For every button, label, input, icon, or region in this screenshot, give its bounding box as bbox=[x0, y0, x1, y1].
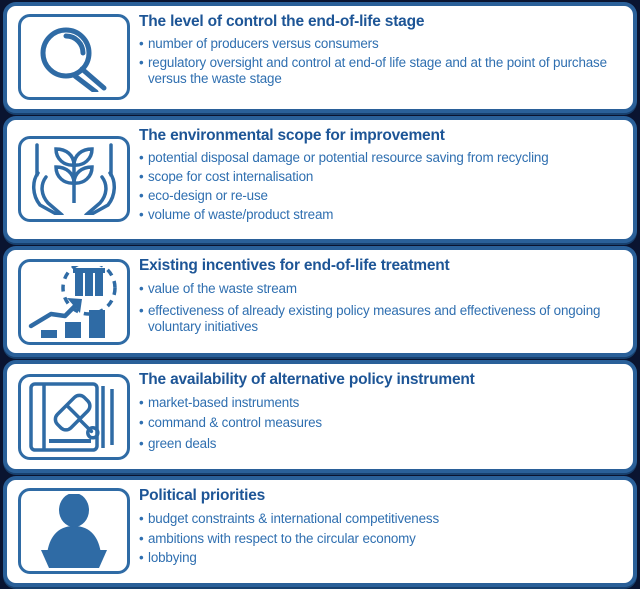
card-text-cell: Political priorities budget constraints … bbox=[135, 480, 633, 583]
icon-frame bbox=[18, 374, 130, 460]
bullet-item: budget constraints & international compe… bbox=[139, 511, 621, 527]
icon-frame bbox=[18, 259, 130, 345]
card-bullet-list: market-based instruments command & contr… bbox=[139, 395, 621, 456]
criteria-card-stack: The level of control the end-of-life sta… bbox=[0, 0, 640, 589]
card-title: The environmental scope for improvement bbox=[139, 127, 621, 144]
criteria-card: Political priorities budget constraints … bbox=[3, 476, 637, 587]
bullet-item: eco-design or re-use bbox=[139, 188, 621, 204]
card-icon-cell bbox=[7, 480, 135, 583]
card-text-cell: The availability of alternative policy i… bbox=[135, 364, 633, 469]
bullet-item: green deals bbox=[139, 436, 621, 452]
card-icon-cell bbox=[7, 364, 135, 469]
icon-frame bbox=[18, 136, 130, 222]
person-podium-icon bbox=[27, 494, 121, 568]
card-text-cell: The environmental scope for improvement … bbox=[135, 120, 633, 239]
card-icon-cell bbox=[7, 250, 135, 354]
bullet-item: ambitions with respect to the circular e… bbox=[139, 531, 621, 547]
bullet-item: number of producers versus consumers bbox=[139, 36, 621, 52]
card-icon-cell bbox=[7, 6, 135, 109]
card-text-cell: Existing incentives for end-of-life trea… bbox=[135, 250, 633, 354]
bullet-item: volume of waste/product stream bbox=[139, 207, 621, 223]
card-text-cell: The level of control the end-of-life sta… bbox=[135, 6, 633, 109]
bullet-item: value of the waste stream bbox=[139, 281, 621, 297]
criteria-card: The level of control the end-of-life sta… bbox=[3, 2, 637, 113]
bullet-item: potential disposal damage or potential r… bbox=[139, 150, 621, 166]
icon-frame bbox=[18, 488, 130, 574]
gavel-book-icon bbox=[27, 381, 121, 453]
card-bullet-list: number of producers versus consumers reg… bbox=[139, 36, 621, 89]
bar-chart-growth-icon bbox=[27, 266, 121, 338]
bullet-item: market-based instruments bbox=[139, 395, 621, 411]
card-title: Political priorities bbox=[139, 487, 621, 504]
bullet-item: scope for cost internalisation bbox=[139, 169, 621, 185]
icon-frame bbox=[18, 14, 130, 100]
bullet-item: lobbying bbox=[139, 550, 621, 566]
card-bullet-list: potential disposal damage or potential r… bbox=[139, 150, 621, 226]
bullet-item: regulatory oversight and control at end-… bbox=[139, 55, 621, 88]
card-bullet-list: value of the waste stream effectiveness … bbox=[139, 281, 621, 340]
bullet-item: command & control measures bbox=[139, 415, 621, 431]
criteria-card: The environmental scope for improvement … bbox=[3, 116, 637, 243]
criteria-card: Existing incentives for end-of-life trea… bbox=[3, 246, 637, 358]
magnifying-glass-icon bbox=[28, 22, 120, 92]
card-title: The level of control the end-of-life sta… bbox=[139, 13, 621, 30]
card-bullet-list: budget constraints & international compe… bbox=[139, 511, 621, 569]
bullet-item: effectiveness of already existing policy… bbox=[139, 303, 621, 336]
card-icon-cell bbox=[7, 120, 135, 239]
criteria-card: The availability of alternative policy i… bbox=[3, 360, 637, 473]
card-title: Existing incentives for end-of-life trea… bbox=[139, 257, 621, 274]
card-title: The availability of alternative policy i… bbox=[139, 371, 621, 388]
hands-holding-plant-icon bbox=[28, 143, 120, 215]
